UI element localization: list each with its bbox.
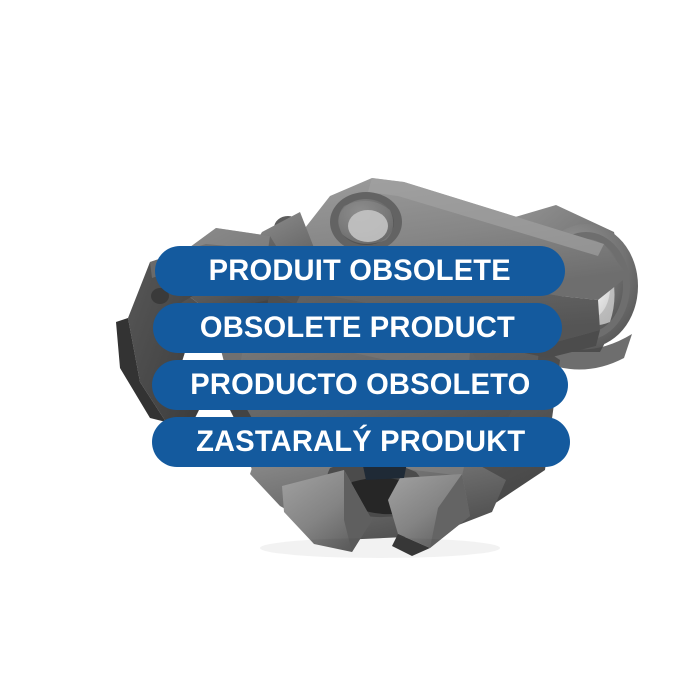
badge-obsolete-en: OBSOLETE PRODUCT <box>153 303 562 353</box>
badge-obsolete-cs: ZASTARALÝ PRODUKT <box>152 417 570 467</box>
badge-label-en: OBSOLETE PRODUCT <box>200 313 515 343</box>
badge-obsolete-fr: PRODUIT OBSOLETE <box>155 246 565 296</box>
badge-label-es: PRODUCTO OBSOLETO <box>190 370 530 400</box>
badge-label-fr: PRODUIT OBSOLETE <box>209 256 511 286</box>
obsolete-product-image: PRODUIT OBSOLETE OBSOLETE PRODUCT PRODUC… <box>0 0 700 700</box>
badge-label-cs: ZASTARALÝ PRODUKT <box>196 427 525 457</box>
badge-obsolete-es: PRODUCTO OBSOLETO <box>152 360 568 410</box>
obsolete-badge-stack: PRODUIT OBSOLETE OBSOLETE PRODUCT PRODUC… <box>0 246 700 467</box>
